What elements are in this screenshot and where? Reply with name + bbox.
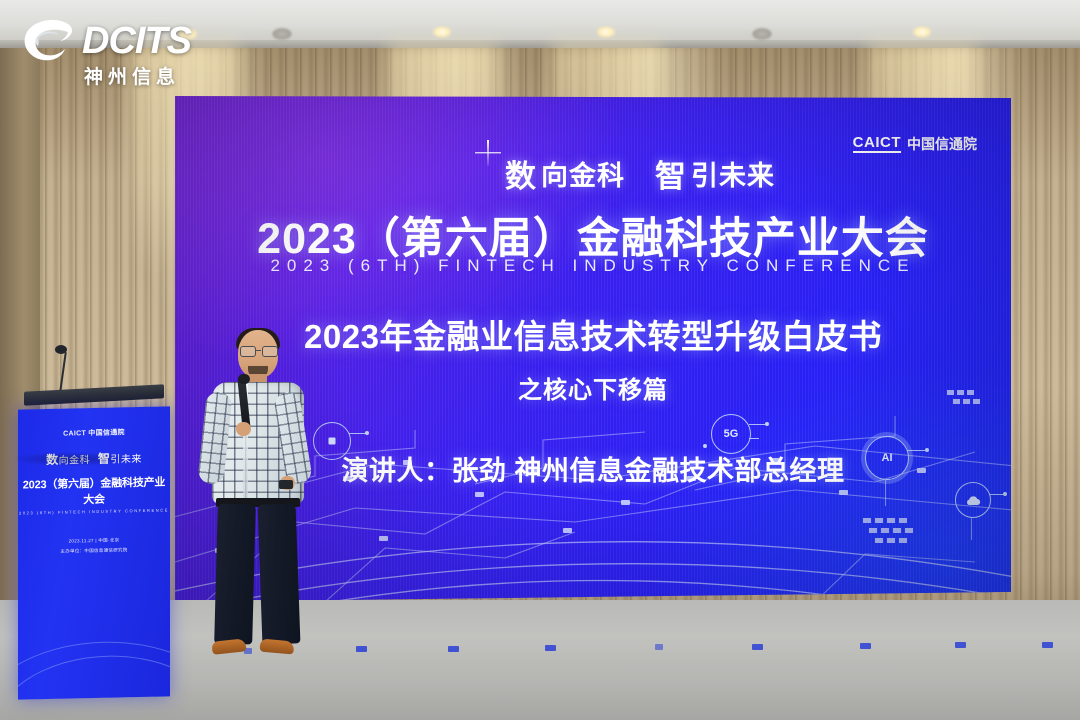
badge-5g-ring: 5G bbox=[711, 414, 751, 454]
floor-led-reflection bbox=[752, 644, 763, 650]
floor-led-reflection bbox=[955, 642, 966, 648]
conference-title-english: 2023 (6TH) FINTECH INDUSTRY CONFERENCE bbox=[175, 256, 1011, 276]
presenter-leg-right bbox=[258, 503, 301, 644]
badge-cloud bbox=[955, 482, 989, 516]
presentation-clicker bbox=[279, 480, 293, 489]
ceiling-spotlight bbox=[272, 28, 292, 40]
floor-led-reflection bbox=[1042, 642, 1053, 648]
podium-date-location: 2023.11.27 | 中国·北京 bbox=[18, 536, 170, 545]
chip-icon bbox=[326, 435, 338, 447]
dcits-watermark: DCITS 神州信息 bbox=[22, 18, 191, 89]
dcits-brand-latin: DCITS bbox=[82, 23, 191, 59]
floor-led-reflection bbox=[860, 643, 871, 649]
caict-logo-cn: 中国信通院 bbox=[907, 134, 977, 154]
sparkle-star-icon bbox=[475, 140, 501, 166]
badge-ai: AI bbox=[865, 436, 907, 478]
ceiling-spotlight bbox=[596, 26, 616, 38]
badge-cloud-ring bbox=[955, 482, 991, 518]
podium-conference-title-en: 2023 (6TH) FINTECH INDUSTRY CONFERENCE bbox=[18, 507, 170, 515]
floor-led-reflection bbox=[655, 644, 663, 650]
podium-host-organization: 主办单位：中国信息通信研究院 bbox=[18, 546, 170, 555]
dcits-brand-cn: 神州信息 bbox=[84, 62, 191, 89]
microphone-head bbox=[238, 374, 250, 384]
badge-ai-ring: AI bbox=[865, 436, 909, 480]
tagline-char-1: 数 bbox=[505, 151, 537, 196]
floor-led-reflection bbox=[356, 646, 367, 652]
tagline-text-1: 向金科 bbox=[541, 154, 625, 193]
conference-stage-photo: CAICT 中国信通院 数 向金科 智 引未来 2023（第六届）金融科技产业大… bbox=[0, 0, 1080, 720]
presenter-left-hand bbox=[236, 422, 251, 436]
presenter-shadow bbox=[12, 452, 132, 466]
badge-5g: 5G bbox=[711, 414, 749, 452]
presenter-shoe-right bbox=[259, 639, 294, 655]
podium-conference-title: 2023（第六届）金融科技产业大会 bbox=[18, 473, 170, 508]
ceiling-spotlight bbox=[912, 26, 932, 38]
caict-logo-mark: CAICT bbox=[853, 135, 901, 153]
presenter-shoe-left bbox=[211, 638, 246, 654]
ceiling-spotlight bbox=[432, 26, 452, 38]
badge-chip-ring bbox=[313, 422, 351, 460]
podium-caict-logo: CAICT 中国信通院 bbox=[18, 426, 170, 439]
tagline-text-2: 引未来 bbox=[691, 154, 775, 193]
conference-tagline: 数 向金科 智 引未来 bbox=[505, 151, 775, 196]
presenter-leg-left bbox=[214, 504, 256, 645]
tagline-char-2: 智 bbox=[655, 151, 687, 196]
ceiling-spotlight bbox=[752, 28, 772, 40]
badge-5g-label: 5G bbox=[724, 428, 739, 440]
badge-chip bbox=[313, 422, 349, 458]
badge-ai-label: AI bbox=[882, 452, 893, 464]
floor-led-reflection bbox=[448, 646, 459, 652]
cloud-icon bbox=[965, 495, 981, 506]
presenter bbox=[196, 330, 316, 660]
floor-led-reflection bbox=[545, 645, 556, 651]
dcits-swoosh-icon bbox=[22, 18, 74, 64]
caict-logo: CAICT 中国信通院 bbox=[853, 134, 977, 154]
glasses-icon bbox=[240, 346, 276, 355]
podium: CAICT 中国信通院 数向金科 智引未来 2023（第六届）金融科技产业大会 … bbox=[18, 406, 170, 699]
presenter-legs bbox=[216, 504, 300, 644]
